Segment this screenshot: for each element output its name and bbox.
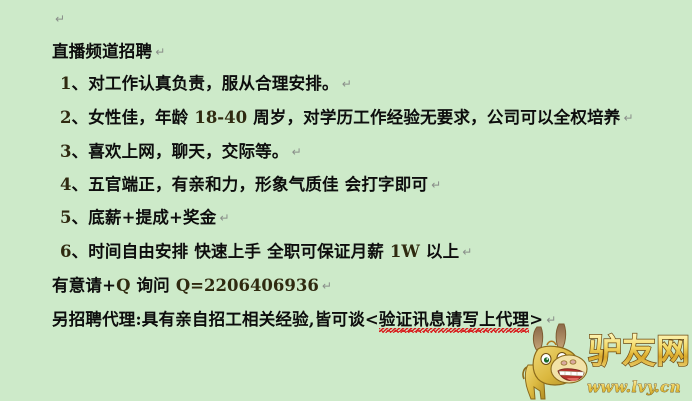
paragraph-mark-icon: ↵ (319, 279, 332, 293)
age-range-value: 18-40 (194, 108, 247, 127)
spellcheck-label: 验证讯息请写上代理 (379, 310, 529, 329)
agent-line-prefix: 另招聘代理:具有亲自招工相关经验,皆可谈 (52, 310, 365, 329)
list-item: 1、对工作认真负责，服从合理安排。↵ (60, 70, 352, 94)
list-item-text-after: 周岁，对学历工作经验无要求，公司可以全权培养 (247, 108, 620, 127)
paragraph-mark-icon: ↵ (216, 211, 229, 225)
list-item: 5、底薪+提成+奖金↵ (60, 204, 230, 228)
list-item-text-after: 以上 (420, 242, 459, 261)
list-item-separator: 、 (71, 142, 88, 161)
salary-value: 1W (390, 242, 420, 261)
list-item-text: 对工作认真负责，服从合理安排。 (88, 74, 339, 93)
list-item: 4、五官端正，有亲和力，形象气质佳 会打字即可↵ (60, 171, 441, 195)
contact-prefix: 有意请+ (52, 276, 116, 295)
paragraph-mark-icon: ↵ (339, 77, 352, 91)
qq-number: 2206406936 (204, 276, 319, 295)
paragraph-mark-icon: ↵ (289, 145, 302, 159)
list-item-separator: 、 (71, 74, 88, 93)
list-item-text: 五官端正，有亲和力，形象气质佳 会打字即可 (88, 175, 428, 194)
brand-text: 驴友网 (588, 332, 690, 372)
list-item-number: 6 (60, 242, 71, 261)
site-watermark: 驴友网 www.lvy.cn (517, 319, 692, 401)
document-page: ↵ 直播频道招聘↵ 1、对工作认真负责，服从合理安排。↵ 2、女性佳，年龄 18… (0, 0, 692, 401)
qq-label: Q= (176, 276, 204, 295)
list-item-separator: 、 (71, 108, 88, 127)
qq-letter: Q (116, 276, 130, 295)
list-item-separator: 、 (71, 242, 88, 261)
list-item-number: 3 (60, 142, 71, 161)
document-title-line: 直播频道招聘↵ (52, 38, 165, 62)
list-item: 6、时间自由安排 快速上手 全职可保证月薪 1W 以上↵ (60, 238, 473, 262)
brand-wordmark: 驴友网 (587, 327, 692, 373)
agent-line: 另招聘代理:具有亲自招工相关经验,皆可谈<验证讯息请写上代理>↵ (52, 306, 556, 330)
list-item-separator: 、 (71, 175, 88, 194)
paragraph-mark-icon: ↵ (459, 245, 472, 259)
list-item-text: 底薪+提成+奖金 (88, 208, 216, 227)
list-item-separator: 、 (71, 208, 88, 227)
list-item-text-before: 女性佳，年龄 (88, 108, 194, 127)
paragraph-mark-icon: ↵ (152, 45, 165, 59)
document-title: 直播频道招聘 (52, 42, 152, 61)
bracket-open: < (365, 310, 379, 329)
brand-url-text: www.lvy.cn (587, 378, 681, 396)
paragraph-mark-icon: ↵ (428, 178, 441, 192)
spellcheck-text: 验证讯息请写上代理 (379, 306, 529, 330)
list-item-number: 5 (60, 208, 71, 227)
list-item-number: 1 (60, 74, 71, 93)
list-item-text-before: 时间自由安排 快速上手 全职可保证月薪 (88, 242, 390, 261)
list-item-number: 4 (60, 175, 71, 194)
paragraph-mark-icon: ↵ (52, 12, 65, 26)
empty-paragraph-line: ↵ (52, 10, 65, 28)
list-item: 2、女性佳，年龄 18-40 周岁，对学历工作经验无要求，公司可以全权培养↵ (60, 104, 634, 128)
paragraph-mark-icon: ↵ (620, 111, 633, 125)
contact-middle: 询问 (131, 276, 176, 295)
contact-line: 有意请+Q 询问 Q=2206406936↵ (52, 272, 332, 296)
list-item-text: 喜欢上网，聊天，交际等。 (88, 142, 288, 161)
spellcheck-squiggle-icon (379, 328, 529, 333)
brand-url: www.lvy.cn (585, 377, 692, 397)
list-item-number: 2 (60, 108, 71, 127)
list-item: 3、喜欢上网，聊天，交际等。↵ (60, 138, 302, 162)
